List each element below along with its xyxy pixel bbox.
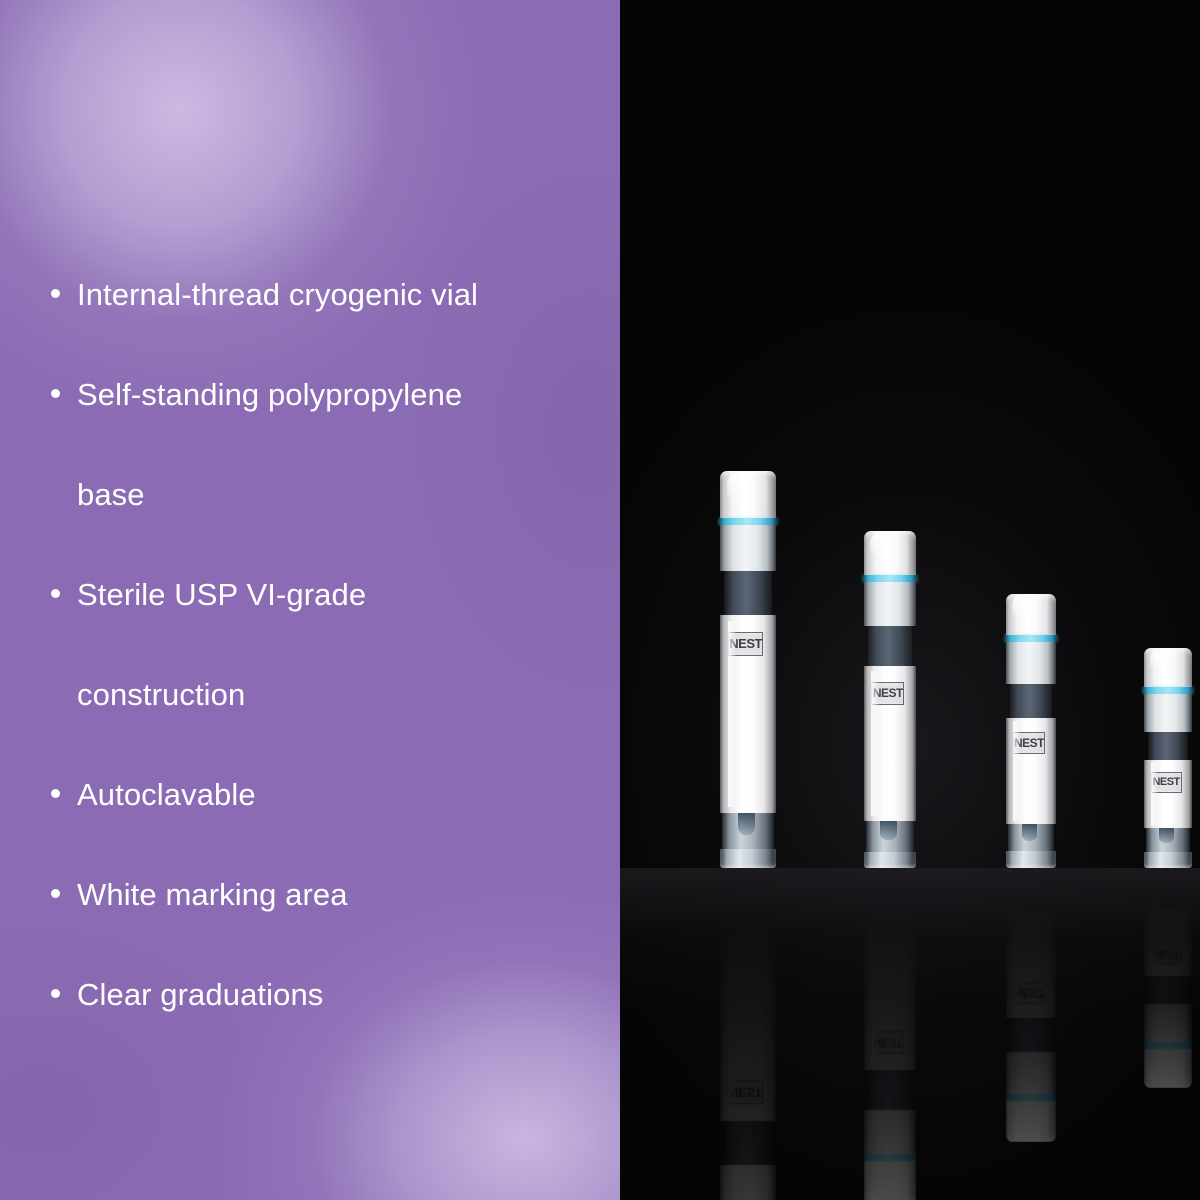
reflective-surface [620,868,1200,1068]
vial-seal-ring [863,575,917,582]
product-photo-panel: NESTNESTNESTNESTNESTNESTNESTNEST [620,0,1200,1200]
feature-item-label: Sterile USP VI-grade construction [46,545,526,745]
feature-item-self-standing-base: Self-standing polypropylene base [46,345,526,545]
bullet-point-icon [51,289,60,298]
vial-marking-barrel: NEST [720,615,776,813]
vial-body: NEST [720,471,776,868]
vial-seal-ring [1005,635,1057,642]
vial-body: NEST [1144,648,1192,868]
vial-graduation-band [868,626,912,666]
vial-self-standing-base [1006,851,1056,868]
bullet-point-icon [51,789,60,798]
vial-neck [720,525,776,571]
vial-marking-barrel: NEST [1144,760,1192,828]
vial-graduation-band [1010,684,1052,718]
vial-marking-barrel: NEST [1006,718,1056,824]
nest-brand-logo: NEST [1013,732,1045,754]
bullet-point-icon [51,889,60,898]
vial-body: NEST [864,531,916,868]
vial-self-standing-base [864,852,916,868]
vial-cap [720,471,776,519]
cryogenic-vial-vial-5ml: NESTNEST [720,471,776,868]
vial-neck [1144,694,1192,732]
cryogenic-vial-vial-2ml: NESTNEST [1006,594,1056,868]
vial-conical-section [866,821,914,852]
feature-item-label: White marking area [46,845,566,945]
vial-graduation-band [724,571,771,615]
vial-conical-section [722,813,774,849]
vial-graduation-band [1148,732,1188,760]
bullet-point-icon [51,389,60,398]
vial-self-standing-base [1144,852,1192,868]
bullet-point-icon [51,989,60,998]
vial-seal-ring [719,518,777,525]
bullet-point-icon [51,589,60,598]
vial-self-standing-base [720,849,776,868]
vial-cap [1006,594,1056,636]
product-feature-slide: Internal-thread cryogenic vialSelf-stand… [0,0,1200,1200]
vial-conical-section [1146,828,1190,852]
vial-cap [1144,648,1192,688]
feature-item-label: Autoclavable [46,745,566,845]
feature-item-clear-graduations: Clear graduations [46,945,566,1045]
feature-item-autoclavable: Autoclavable [46,745,566,845]
vial-cap [864,531,916,576]
feature-item-internal-thread: Internal-thread cryogenic vial [46,245,566,345]
feature-item-label: Internal-thread cryogenic vial [46,245,566,345]
feature-item-label: Self-standing polypropylene base [46,345,526,545]
cryogenic-vial-vial-1-8ml: NESTNEST [1144,648,1192,868]
vial-neck [1006,642,1056,684]
vial-conical-section [1008,824,1054,851]
vial-neck [864,582,916,626]
vial-marking-barrel: NEST [864,666,916,821]
vial-seal-ring [1143,687,1193,694]
nest-brand-logo: NEST [728,632,764,656]
nest-brand-logo: NEST [1151,772,1182,793]
nest-brand-logo: NEST [871,682,904,705]
feature-item-white-marking-area: White marking area [46,845,566,945]
feature-item-sterile-usp-vi: Sterile USP VI-grade construction [46,545,526,745]
feature-item-label: Clear graduations [46,945,566,1045]
cryogenic-vial-vial-4ml: NESTNEST [864,531,916,868]
vial-body: NEST [1006,594,1056,868]
features-panel: Internal-thread cryogenic vialSelf-stand… [0,0,620,1200]
